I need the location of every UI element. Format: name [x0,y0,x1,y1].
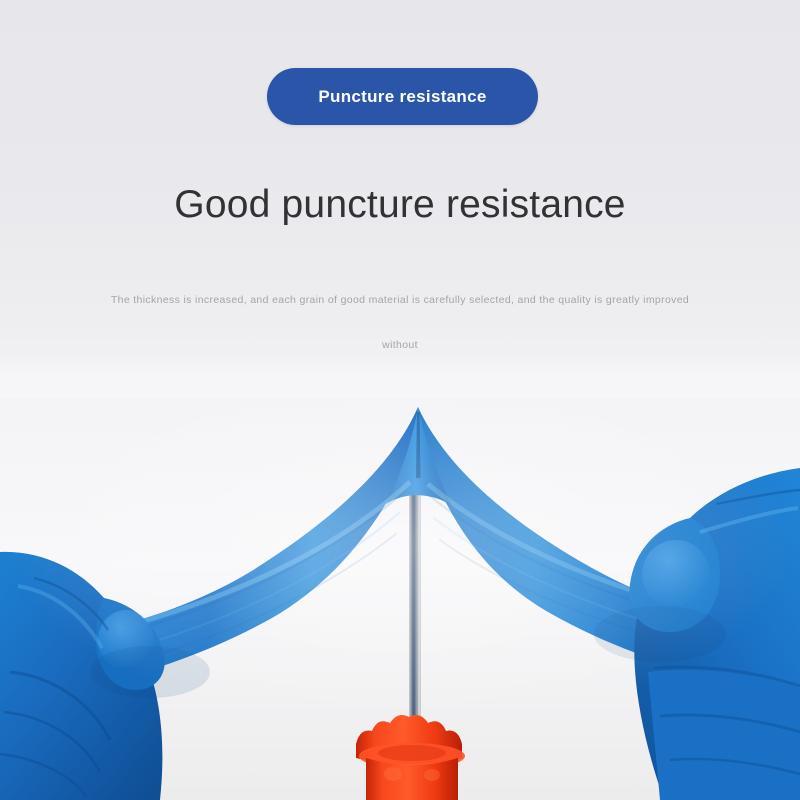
description-line-1: The thickness is increased, and each gra… [100,278,700,368]
puncture-resistance-badge: Puncture resistance [267,68,538,125]
product-feature-banner: Puncture resistance Good puncture resist… [0,0,800,800]
page-title: Good puncture resistance [0,181,800,229]
product-photo [0,372,800,800]
screwdriver-shaft [409,492,421,742]
badge-label: Puncture resistance [318,87,486,107]
photo-illustration [0,372,800,800]
text-panel: Puncture resistance Good puncture resist… [0,0,800,400]
